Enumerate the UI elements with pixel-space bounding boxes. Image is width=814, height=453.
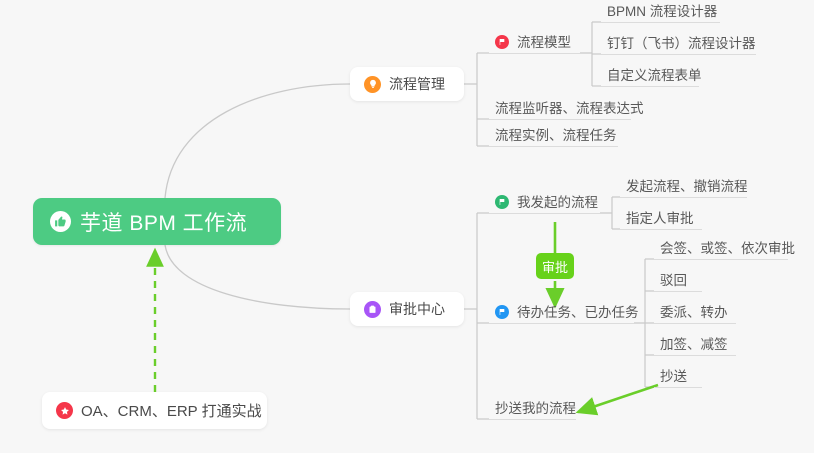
thumbs-up-icon bbox=[50, 211, 71, 232]
node-label: BPMN 流程设计器 bbox=[607, 4, 717, 19]
lightbulb-icon bbox=[364, 76, 381, 93]
branch-label: 流程管理 bbox=[389, 74, 445, 94]
approval-tag[interactable]: 审批 bbox=[536, 253, 574, 279]
node-label: 流程实例、流程任务 bbox=[495, 128, 617, 143]
branch-label: 审批中心 bbox=[389, 299, 445, 319]
node-delegate-transfer[interactable]: 委派、转办 bbox=[654, 297, 736, 324]
node-countersign[interactable]: 会签、或签、依次审批 bbox=[654, 233, 788, 260]
approval-tag-label: 审批 bbox=[542, 257, 568, 276]
node-assignee-approval[interactable]: 指定人审批 bbox=[620, 203, 702, 230]
node-cc-my-flow[interactable]: 抄送我的流程 bbox=[489, 393, 576, 420]
node-label: 会签、或签、依次审批 bbox=[660, 241, 795, 256]
flag-icon bbox=[495, 35, 509, 49]
node-reject[interactable]: 驳回 bbox=[654, 265, 702, 292]
green-arrow-cc-to-ccflow bbox=[578, 385, 658, 412]
node-label: 加签、减签 bbox=[660, 337, 728, 352]
star-icon bbox=[56, 402, 73, 419]
node-label: 流程模型 bbox=[517, 35, 571, 50]
node-label: 待办任务、已办任务 bbox=[517, 305, 639, 320]
node-todo-done-tasks[interactable]: 待办任务、已办任务 bbox=[489, 297, 634, 324]
node-label: 发起流程、撤销流程 bbox=[626, 179, 748, 194]
node-add-remove-sign[interactable]: 加签、减签 bbox=[654, 329, 736, 356]
node-label: 我发起的流程 bbox=[517, 195, 598, 210]
node-process-listener[interactable]: 流程监听器、流程表达式 bbox=[489, 93, 631, 120]
mindmap-canvas: 芋道 BPM 工作流 流程管理 流程模型 流程监听器、流程表达式 流程实例、流程… bbox=[0, 0, 814, 453]
node-process-model[interactable]: 流程模型 bbox=[489, 27, 580, 54]
node-process-instance[interactable]: 流程实例、流程任务 bbox=[489, 120, 618, 147]
clipboard-icon bbox=[364, 301, 381, 318]
footer-node-oa-crm-erp[interactable]: OA、CRM、ERP 打通实战 bbox=[42, 392, 267, 429]
flag-icon bbox=[495, 305, 509, 319]
link-todo-trunk bbox=[634, 259, 645, 387]
root-node[interactable]: 芋道 BPM 工作流 bbox=[33, 198, 281, 245]
flag-icon bbox=[495, 195, 509, 209]
node-label: 抄送我的流程 bbox=[495, 401, 576, 416]
node-dingtalk-designer[interactable]: 钉钉（飞书）流程设计器 bbox=[601, 28, 756, 55]
node-label: 抄送 bbox=[660, 369, 687, 384]
link-pm-trunk bbox=[464, 53, 477, 146]
link-ac-trunk bbox=[464, 213, 477, 419]
node-label: 委派、转办 bbox=[660, 305, 728, 320]
link-myinit-trunk bbox=[600, 197, 612, 229]
branch-process-management[interactable]: 流程管理 bbox=[350, 67, 464, 101]
node-start-cancel-flow[interactable]: 发起流程、撤销流程 bbox=[620, 171, 747, 198]
node-label: 流程监听器、流程表达式 bbox=[495, 101, 644, 116]
link-model-trunk bbox=[580, 22, 592, 86]
link-root-to-approval-center bbox=[165, 245, 350, 309]
node-label: 驳回 bbox=[660, 273, 687, 288]
node-label: 自定义流程表单 bbox=[607, 68, 702, 83]
root-label: 芋道 BPM 工作流 bbox=[80, 207, 247, 237]
node-bpmn-designer[interactable]: BPMN 流程设计器 bbox=[601, 0, 720, 23]
node-my-initiated[interactable]: 我发起的流程 bbox=[489, 187, 600, 214]
node-label: 指定人审批 bbox=[626, 211, 694, 226]
node-custom-form[interactable]: 自定义流程表单 bbox=[601, 60, 699, 87]
node-label: 钉钉（飞书）流程设计器 bbox=[607, 36, 756, 51]
link-root-to-process-management bbox=[165, 84, 350, 198]
footer-node-label: OA、CRM、ERP 打通实战 bbox=[81, 400, 262, 421]
branch-approval-center[interactable]: 审批中心 bbox=[350, 292, 464, 326]
node-carbon-copy[interactable]: 抄送 bbox=[654, 361, 702, 388]
